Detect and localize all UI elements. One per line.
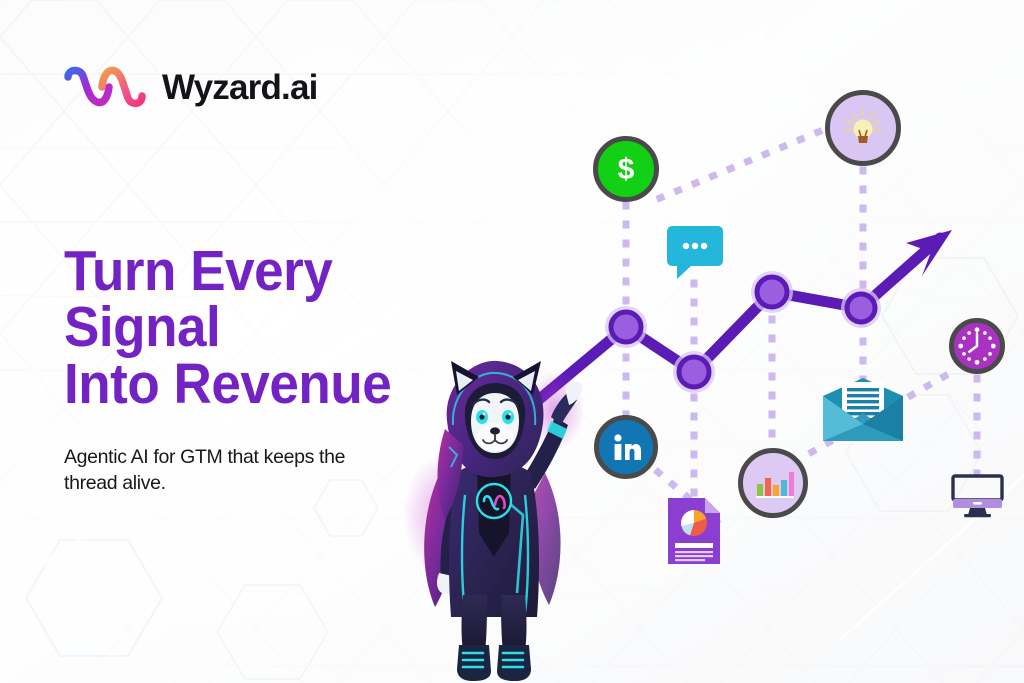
monitor-icon[interactable] — [950, 474, 1005, 518]
brand-logo[interactable]: Wyzard.ai — [62, 63, 318, 111]
bar-chart-glyph — [751, 461, 795, 505]
clock-glyph — [954, 322, 1000, 370]
hero-subheadline: Agentic AI for GTM that keeps the thread… — [64, 445, 429, 497]
pie-chart-document-icon[interactable] — [668, 498, 720, 564]
dollar-sign-glyph: $ — [606, 149, 646, 189]
chat-bubble-glyph — [667, 226, 723, 279]
bar-chart-icon[interactable] — [738, 448, 808, 518]
envelope-glyph — [823, 378, 903, 441]
svg-text:$: $ — [618, 153, 635, 186]
dollar-coin-icon[interactable]: $ — [593, 136, 659, 202]
brand-name: Wyzard.ai — [162, 70, 318, 105]
lightbulb-glyph — [841, 106, 885, 150]
monitor-glyph — [950, 474, 1005, 518]
linkedin-icon[interactable] — [594, 415, 658, 479]
lightbulb-icon[interactable] — [825, 90, 901, 166]
document-pie-glyph — [668, 498, 720, 564]
hero-copy: Turn Every Signal Into Revenue Agentic A… — [64, 243, 534, 497]
wyzard-wave-logo-icon — [62, 63, 148, 111]
hero-banner: Wyzard.ai Turn Every Signal Into Revenue… — [0, 0, 1024, 683]
linkedin-glyph — [606, 427, 646, 467]
page-title: Turn Every Signal Into Revenue — [64, 243, 501, 412]
clock-icon[interactable] — [949, 318, 1005, 374]
chart-nodes — [605, 271, 881, 393]
email-envelope-icon[interactable] — [823, 378, 903, 441]
upward-growth-arrow-head — [906, 230, 952, 276]
chat-bubble-icon[interactable] — [667, 226, 723, 279]
